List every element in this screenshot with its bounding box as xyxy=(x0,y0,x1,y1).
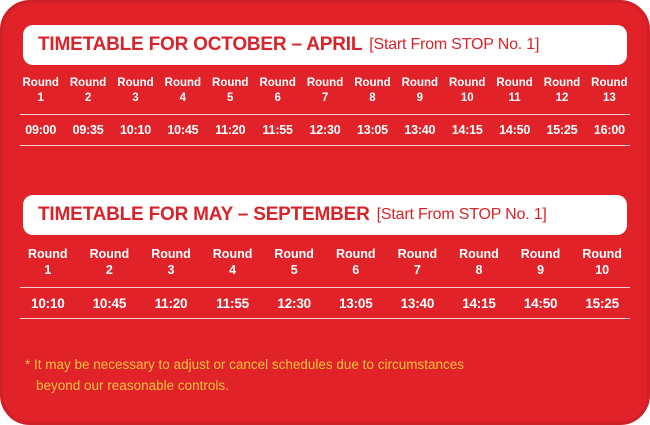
round-label: Round xyxy=(491,76,538,91)
time-cell: 13:40 xyxy=(396,123,443,137)
round-header-cell: Round 9 xyxy=(396,76,443,105)
time-cell: 10:10 xyxy=(112,123,159,137)
section-title-bar: TIMETABLE FOR MAY – SEPTEMBER [Start Fro… xyxy=(23,195,627,235)
footnote-line: beyond our reasonable controls. xyxy=(25,376,625,397)
section-title: TIMETABLE FOR MAY – SEPTEMBER xyxy=(38,204,370,226)
time-cell: 13:05 xyxy=(349,123,396,137)
time-cell: 14:15 xyxy=(444,123,491,137)
round-label: Round xyxy=(301,76,348,91)
round-label: Round xyxy=(387,246,449,262)
timetable-section-may-september: TIMETABLE FOR MAY – SEPTEMBER [Start Fro… xyxy=(3,195,647,319)
round-label: Round xyxy=(571,246,633,262)
round-number: 10 xyxy=(571,262,633,278)
time-cell: 13:05 xyxy=(325,296,387,311)
time-cell: 09:35 xyxy=(64,123,111,137)
round-label: Round xyxy=(140,246,202,262)
round-label: Round xyxy=(202,246,264,262)
time-cell: 09:00 xyxy=(17,123,64,137)
round-number: 5 xyxy=(263,262,325,278)
round-header-cell: Round 1 xyxy=(17,76,64,105)
footnote-line: * It may be necessary to adjust or cance… xyxy=(25,355,625,376)
round-number: 3 xyxy=(112,91,159,106)
round-label: Round xyxy=(448,246,510,262)
round-label: Round xyxy=(17,246,79,262)
round-label: Round xyxy=(444,76,491,91)
round-header-cell: Round 1 xyxy=(17,246,79,278)
round-header-cell: Round 3 xyxy=(140,246,202,278)
round-number: 9 xyxy=(396,91,443,106)
round-number: 11 xyxy=(491,91,538,106)
round-header-cell: Round 10 xyxy=(571,246,633,278)
round-label: Round xyxy=(254,76,301,91)
round-label: Round xyxy=(263,246,325,262)
round-number: 7 xyxy=(387,262,449,278)
round-number: 9 xyxy=(510,262,572,278)
divider-line xyxy=(20,145,630,146)
round-header-cell: Round 8 xyxy=(448,246,510,278)
round-number: 2 xyxy=(64,91,111,106)
round-header-cell: Round 6 xyxy=(325,246,387,278)
round-header-cell: Round 11 xyxy=(491,76,538,105)
round-number: 6 xyxy=(325,262,387,278)
round-header-cell: Round 2 xyxy=(79,246,141,278)
round-number: 8 xyxy=(448,262,510,278)
section-title-note: [Start From STOP No. 1] xyxy=(377,206,547,224)
round-header-cell: Round 7 xyxy=(387,246,449,278)
time-cell: 12:30 xyxy=(301,123,348,137)
round-label: Round xyxy=(79,246,141,262)
times-row: 09:00 09:35 10:10 10:45 11:20 11:55 12:3… xyxy=(3,115,647,145)
round-label: Round xyxy=(112,76,159,91)
timetable-poster: TIMETABLE FOR OCTOBER – APRIL [Start Fro… xyxy=(0,0,650,425)
round-number: 4 xyxy=(202,262,264,278)
time-cell: 14:50 xyxy=(491,123,538,137)
rounds-header-row: Round 1 Round 2 Round 3 Round 4 Round 5 … xyxy=(3,246,647,278)
round-header-cell: Round 6 xyxy=(254,76,301,105)
time-cell: 10:45 xyxy=(159,123,206,137)
round-label: Round xyxy=(538,76,585,91)
round-label: Round xyxy=(586,76,633,91)
round-header-cell: Round 5 xyxy=(207,76,254,105)
time-cell: 10:10 xyxy=(17,296,79,311)
round-number: 1 xyxy=(17,262,79,278)
time-cell: 15:25 xyxy=(571,296,633,311)
time-cell: 11:20 xyxy=(140,296,202,311)
divider-line xyxy=(20,318,630,319)
round-label: Round xyxy=(349,76,396,91)
round-number: 7 xyxy=(301,91,348,106)
round-header-cell: Round 13 xyxy=(586,76,633,105)
round-label: Round xyxy=(325,246,387,262)
round-header-cell: Round 10 xyxy=(444,76,491,105)
section-title-bar: TIMETABLE FOR OCTOBER – APRIL [Start Fro… xyxy=(23,25,627,65)
section-title: TIMETABLE FOR OCTOBER – APRIL xyxy=(38,34,362,56)
time-cell: 15:25 xyxy=(538,123,585,137)
round-header-cell: Round 4 xyxy=(202,246,264,278)
round-header-cell: Round 4 xyxy=(159,76,206,105)
round-number: 5 xyxy=(207,91,254,106)
footnote: * It may be necessary to adjust or cance… xyxy=(25,355,625,397)
time-cell: 14:50 xyxy=(510,296,572,311)
time-cell: 11:20 xyxy=(207,123,254,137)
round-header-cell: Round 5 xyxy=(263,246,325,278)
round-number: 4 xyxy=(159,91,206,106)
round-header-cell: Round 3 xyxy=(112,76,159,105)
round-label: Round xyxy=(396,76,443,91)
rounds-header-row: Round 1 Round 2 Round 3 Round 4 Round 5 … xyxy=(3,76,647,105)
time-cell: 11:55 xyxy=(202,296,264,311)
round-number: 2 xyxy=(79,262,141,278)
time-cell: 13:40 xyxy=(387,296,449,311)
round-number: 10 xyxy=(444,91,491,106)
section-title-note: [Start From STOP No. 1] xyxy=(369,36,539,54)
round-number: 1 xyxy=(17,91,64,106)
round-header-cell: Round 7 xyxy=(301,76,348,105)
round-number: 3 xyxy=(140,262,202,278)
time-cell: 12:30 xyxy=(263,296,325,311)
round-label: Round xyxy=(207,76,254,91)
time-cell: 11:55 xyxy=(254,123,301,137)
round-header-cell: Round 12 xyxy=(538,76,585,105)
round-number: 8 xyxy=(349,91,396,106)
round-header-cell: Round 9 xyxy=(510,246,572,278)
round-number: 13 xyxy=(586,91,633,106)
time-cell: 16:00 xyxy=(586,123,633,137)
round-header-cell: Round 2 xyxy=(64,76,111,105)
round-number: 6 xyxy=(254,91,301,106)
round-label: Round xyxy=(64,76,111,91)
round-label: Round xyxy=(510,246,572,262)
round-label: Round xyxy=(159,76,206,91)
times-row: 10:10 10:45 11:20 11:55 12:30 13:05 13:4… xyxy=(3,288,647,318)
round-label: Round xyxy=(17,76,64,91)
time-cell: 14:15 xyxy=(448,296,510,311)
time-cell: 10:45 xyxy=(79,296,141,311)
round-number: 12 xyxy=(538,91,585,106)
round-header-cell: Round 8 xyxy=(349,76,396,105)
timetable-section-october-april: TIMETABLE FOR OCTOBER – APRIL [Start Fro… xyxy=(3,25,647,146)
